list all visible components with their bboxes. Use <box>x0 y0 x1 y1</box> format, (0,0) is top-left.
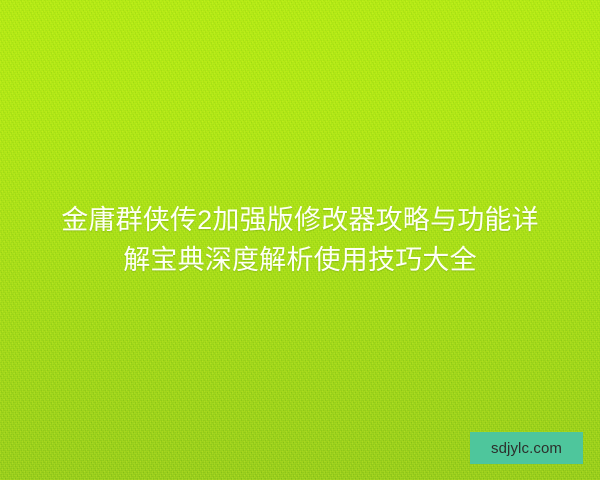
page-title: 金庸群侠传2加强版修改器攻略与功能详 解宝典深度解析使用技巧大全 <box>0 200 600 280</box>
watermark-label: sdjylc.com <box>491 441 562 456</box>
image-card: 金庸群侠传2加强版修改器攻略与功能详 解宝典深度解析使用技巧大全 sdjylc.… <box>0 0 600 480</box>
watermark-badge: sdjylc.com <box>470 432 583 464</box>
page-title-line-2: 解宝典深度解析使用技巧大全 <box>0 240 600 280</box>
page-title-line-1: 金庸群侠传2加强版修改器攻略与功能详 <box>0 200 600 240</box>
